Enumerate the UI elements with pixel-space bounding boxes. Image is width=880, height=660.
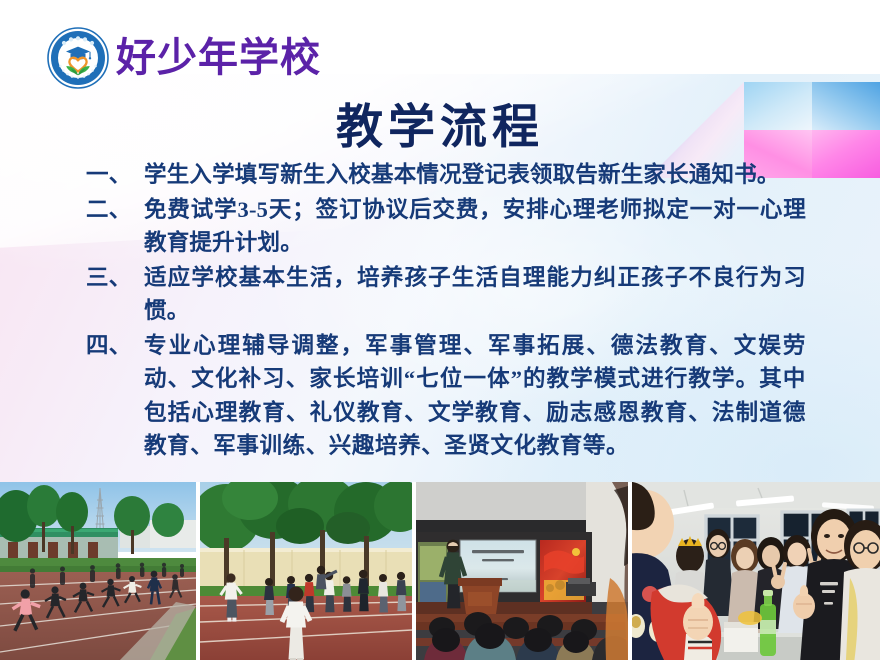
photo-students-running-track bbox=[0, 482, 196, 660]
list-item-marker: 一、 bbox=[86, 158, 144, 192]
photo-students-lined-up-track bbox=[200, 482, 412, 660]
list-item: 二、 免费试学3-5天；签订协议后交费，安排心理老师拟定一对一心理教育提升计划。 bbox=[86, 193, 806, 260]
photo-lecture-hall-presentation bbox=[416, 482, 628, 660]
list-item-text: 专业心理辅导调整，军事管理、军事拓展、德法教育、文娱劳动、文化补习、家长培训“七… bbox=[144, 329, 806, 463]
list-item-text: 适应学校基本生活，培养孩子生活自理能力纠正孩子不良行为习惯。 bbox=[144, 261, 806, 328]
brand-lockup: 好少年学校 bbox=[46, 26, 321, 90]
list-item: 三、 适应学校基本生活，培养孩子生活自理能力纠正孩子不良行为习惯。 bbox=[86, 261, 806, 328]
list-item-marker: 二、 bbox=[86, 193, 144, 227]
school-name-text: 好少年学校 bbox=[116, 38, 321, 78]
list-item-marker: 三、 bbox=[86, 261, 144, 295]
slide-canvas: 好少年学校 教学流程 一、 学生入学填写新生入校基本情况登记表领取告新生家长通知… bbox=[0, 0, 880, 660]
list-item: 一、 学生入学填写新生入校基本情况登记表领取告新生家长通知书。 bbox=[86, 158, 806, 192]
school-emblem-icon bbox=[46, 26, 110, 90]
list-item-text: 学生入学填写新生入校基本情况登记表领取告新生家长通知书。 bbox=[144, 158, 806, 192]
process-list: 一、 学生入学填写新生入校基本情况登记表领取告新生家长通知书。 二、 免费试学3… bbox=[86, 158, 806, 464]
list-item: 四、 专业心理辅导调整，军事管理、军事拓展、德法教育、文娱劳动、文化补习、家长培… bbox=[86, 329, 806, 463]
photo-strip bbox=[0, 482, 880, 660]
list-item-text: 免费试学3-5天；签订协议后交费，安排心理老师拟定一对一心理教育提升计划。 bbox=[144, 193, 806, 260]
list-item-marker: 四、 bbox=[86, 329, 144, 363]
page-title: 教学流程 bbox=[0, 88, 880, 157]
photo-students-group-classroom bbox=[632, 482, 880, 660]
